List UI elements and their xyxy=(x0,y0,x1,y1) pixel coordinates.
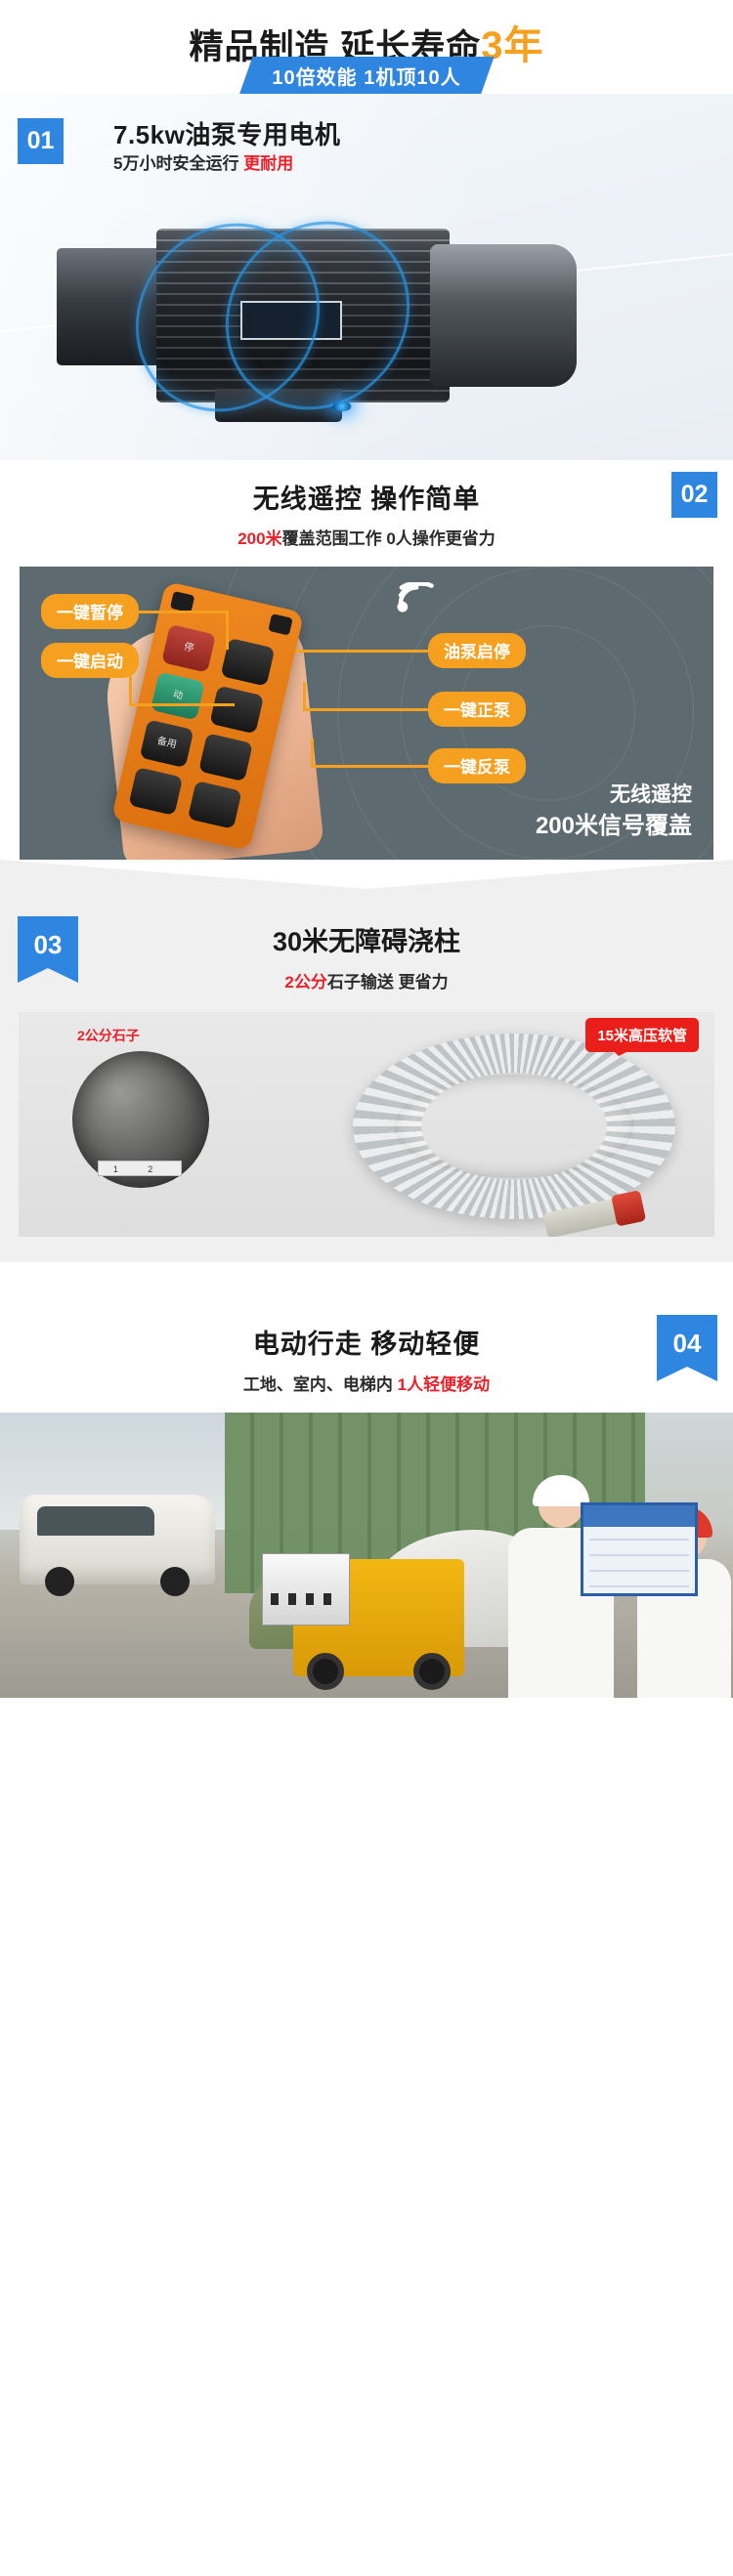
chevron-separator xyxy=(0,860,733,899)
chevron-separator-2 xyxy=(0,1262,733,1301)
leader-line-pause xyxy=(135,611,229,613)
leader-line-pump xyxy=(295,650,428,653)
panel-note-line2: 200米信号覆盖 xyxy=(536,810,692,844)
leader-line-forward-v xyxy=(303,682,306,711)
van-wheel-front xyxy=(45,1567,74,1596)
subtitle-ribbon: 10倍效能 1机顶10人 xyxy=(238,57,494,96)
section-subheading-03: 2公分石子输送 更省力 xyxy=(0,968,733,992)
section-sub-plain-01: 5万小时安全运行 xyxy=(113,154,238,173)
stone-photo-circle: 1 2 xyxy=(72,1051,209,1188)
remote-button-spare-3[interactable] xyxy=(188,781,242,829)
section-03: 03 30米无障碍浇柱 2公分石子输送 更省力 2公分石子 1 2 15米高压软… xyxy=(0,899,733,1262)
remote-button-start[interactable]: 动 xyxy=(151,672,205,721)
led-glow-icon xyxy=(332,401,352,411)
van-wheel-rear xyxy=(160,1567,190,1596)
remote-screw-right xyxy=(268,613,292,635)
section-02: 02 无线遥控 操作简单 200米覆盖范围工作 0人操作更省力 xyxy=(0,460,733,860)
section-sub-accent-01: 更耐用 xyxy=(243,154,293,173)
section-sub-accent-04: 1人轻便移动 xyxy=(398,1375,490,1394)
leader-line-start-v xyxy=(129,659,132,706)
leader-line-reverse-v xyxy=(311,739,314,768)
leader-line-start-h xyxy=(129,703,235,706)
remote-button-spare-1[interactable]: 备用 xyxy=(140,719,194,768)
remote-button-forward[interactable] xyxy=(209,686,264,735)
hose-coupling-red-cap xyxy=(611,1190,646,1227)
section-sub-plain-04: 工地、室内、电梯内 xyxy=(243,1375,398,1394)
leader-line-reverse xyxy=(311,765,428,768)
section-heading-01: 7.5kw油泵专用电机 xyxy=(113,115,340,151)
remote-button-reverse[interactable] xyxy=(198,733,253,781)
section-number-badge-01: 01 xyxy=(18,118,64,164)
motor-rear-housing xyxy=(430,244,577,387)
construction-site-photo xyxy=(0,1413,733,1698)
white-van xyxy=(20,1495,215,1584)
section-subheading-04: 工地、室内、电梯内 1人轻便移动 xyxy=(0,1371,733,1395)
section-sub-accent-03: 2公分 xyxy=(284,973,326,992)
motor-product-image xyxy=(39,201,694,445)
callout-start: 一键启动 xyxy=(41,643,139,678)
machine-wheel-left xyxy=(307,1653,344,1690)
safety-notice-board xyxy=(581,1502,698,1596)
section-01: 01 7.5kw油泵专用电机 5万小时安全运行 更耐用 xyxy=(0,94,733,460)
van-window xyxy=(37,1506,154,1536)
callout-pump-switch: 油泵启停 xyxy=(428,633,526,668)
product-detail-page: 精品制造 延长寿命3年 10倍效能 1机顶10人 01 7.5kw油泵专用电机 … xyxy=(0,0,733,1698)
wifi-signal-icon xyxy=(397,582,440,617)
section-subheading-02: 200米覆盖范围工作 0人操作更省力 xyxy=(0,525,733,549)
hose-and-stone-image: 2公分石子 1 2 15米高压软管 xyxy=(19,1012,714,1237)
concrete-pump-machine xyxy=(293,1559,464,1676)
remote-control-panel: 停 动 备用 一键暂停 一键启动 油泵启停 一键正泵 一键反泵 xyxy=(20,567,713,860)
remote-button-stop[interactable]: 停 xyxy=(161,624,216,673)
callout-forward: 一键正泵 xyxy=(428,692,526,727)
section-sub-accent-02: 200米 xyxy=(237,529,281,548)
ruler-scale: 1 2 xyxy=(98,1161,182,1176)
section-subheading-01: 5万小时安全运行 更耐用 xyxy=(113,149,293,174)
remote-button-spare-2[interactable] xyxy=(128,767,183,816)
machine-wheel-right xyxy=(413,1653,451,1690)
hose-length-callout: 15米高压软管 xyxy=(585,1018,699,1052)
control-panel-box xyxy=(262,1553,350,1626)
top-banner: 精品制造 延长寿命3年 10倍效能 1机顶10人 xyxy=(0,0,733,94)
section-heading-03: 30米无障碍浇柱 xyxy=(0,920,733,958)
section-heading-02: 无线遥控 操作简单 xyxy=(0,478,733,516)
callout-pause: 一键暂停 xyxy=(41,594,139,629)
panel-note-line1: 无线遥控 xyxy=(536,781,692,810)
section-04: 04 电动行走 移动轻便 工地、室内、电梯内 1人轻便移动 xyxy=(0,1301,733,1698)
leader-line-pause-v xyxy=(226,611,229,650)
leader-line-forward xyxy=(303,708,428,711)
section-sub-plain-03: 石子输送 更省力 xyxy=(327,973,449,992)
section-number-badge-02: 02 xyxy=(671,472,717,518)
section-heading-04: 电动行走 移动轻便 xyxy=(0,1323,733,1361)
callout-reverse: 一键反泵 xyxy=(428,748,526,783)
panel-note: 无线遥控 200米信号覆盖 xyxy=(536,781,692,844)
control-knobs xyxy=(271,1593,341,1605)
notice-board-content xyxy=(589,1533,689,1587)
section-sub-plain-02: 覆盖范围工作 0人操作更省力 xyxy=(282,529,496,548)
stone-size-label: 2公分石子 xyxy=(77,1026,140,1045)
